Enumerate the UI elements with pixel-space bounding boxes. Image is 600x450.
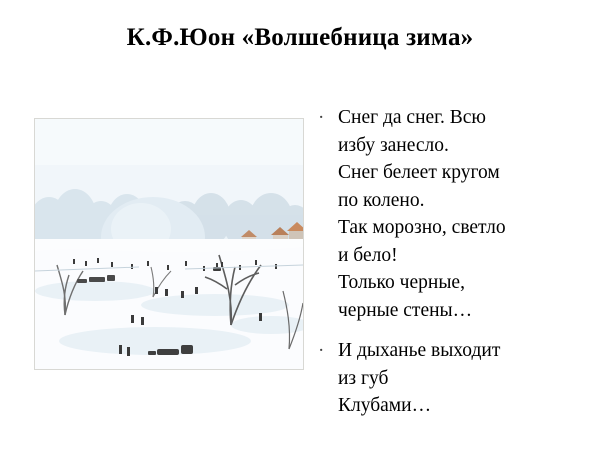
bullet-marker-icon: · [318, 337, 324, 364]
list-item: · И дыханье выходит из губ Клубами… [310, 337, 590, 420]
bullet-text: И дыханье выходит из губ Клубами… [338, 337, 590, 420]
bullet-text: Снег да снег. Всю избу занесло. Снег бел… [338, 104, 590, 324]
poem-line: черные стены… [338, 297, 590, 325]
poem-line: Снег да снег. Всю [338, 104, 590, 132]
page-title: К.Ф.Юон «Волшебница зима» [0, 24, 600, 52]
poem-line: Клубами… [338, 392, 590, 420]
poem-line: и бело! [338, 242, 590, 270]
poem-line: Только черные, [338, 269, 590, 297]
poem-line: Снег белеет кругом [338, 159, 590, 187]
slide: К.Ф.Юон «Волшебница зима» [0, 0, 600, 450]
bullet-text-column: · Снег да снег. Всю избу занесло. Снег б… [310, 104, 590, 433]
poem-line: И дыханье выходит [338, 337, 590, 365]
volshebnitsa-zima-painting [34, 118, 304, 370]
list-item: · Снег да снег. Всю избу занесло. Снег б… [310, 104, 590, 324]
poem-line: по колено. [338, 187, 590, 215]
painting-artwork [35, 119, 303, 369]
poem-line: Так морозно, светло [338, 214, 590, 242]
poem-line: избу занесло. [338, 132, 590, 160]
poem-line: из губ [338, 365, 590, 393]
painting-container [34, 118, 304, 370]
bullet-marker-icon: · [318, 104, 324, 131]
